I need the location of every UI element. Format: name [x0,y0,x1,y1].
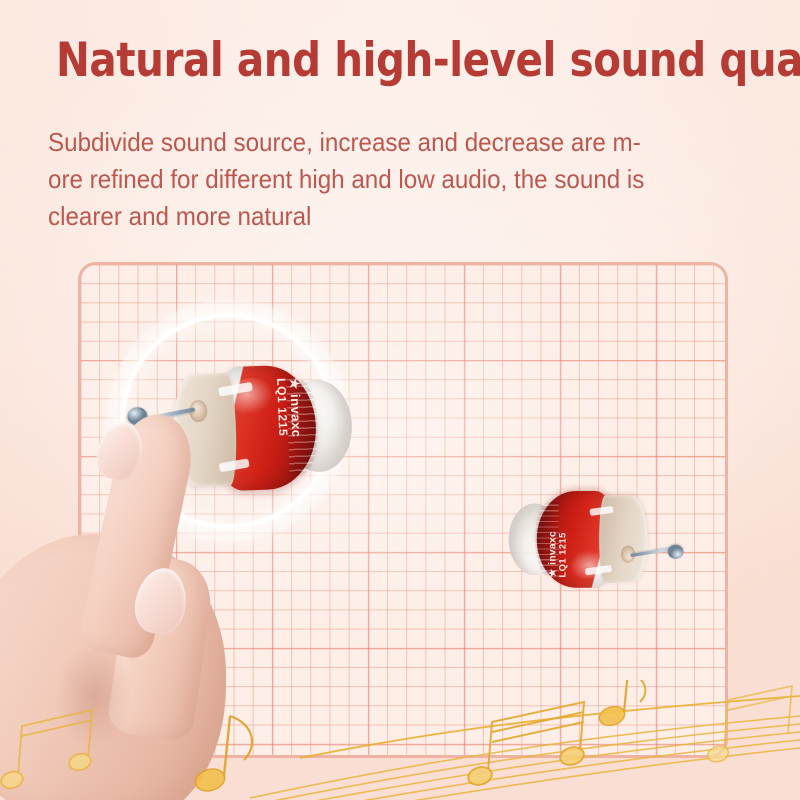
description-line-1: Subdivide sound source, increase and dec… [48,124,714,161]
device-branding-right: ★ invaxc LQ1 1215 [547,520,584,578]
description-text: Subdivide sound source, increase and dec… [48,124,714,235]
description-line-2: ore refined for different high and low a… [48,161,714,198]
removal-wire-knob [668,545,684,559]
device-brand-text: ★ invaxc [288,377,304,451]
device-model-code: LQ1 1215 [558,520,568,578]
description-line-3: clearer and more natural [48,198,714,235]
hand-pointing [0,408,288,800]
knuckle-shadow [46,644,142,774]
promo-page: Natural and high-level sound quality Sub… [0,0,800,800]
hearing-aid-device-right: ★ invaxc LQ1 1215 [512,479,652,596]
device-brand-text: ★ invaxc [547,520,558,578]
page-title: Natural and high-level sound quality [56,34,744,88]
